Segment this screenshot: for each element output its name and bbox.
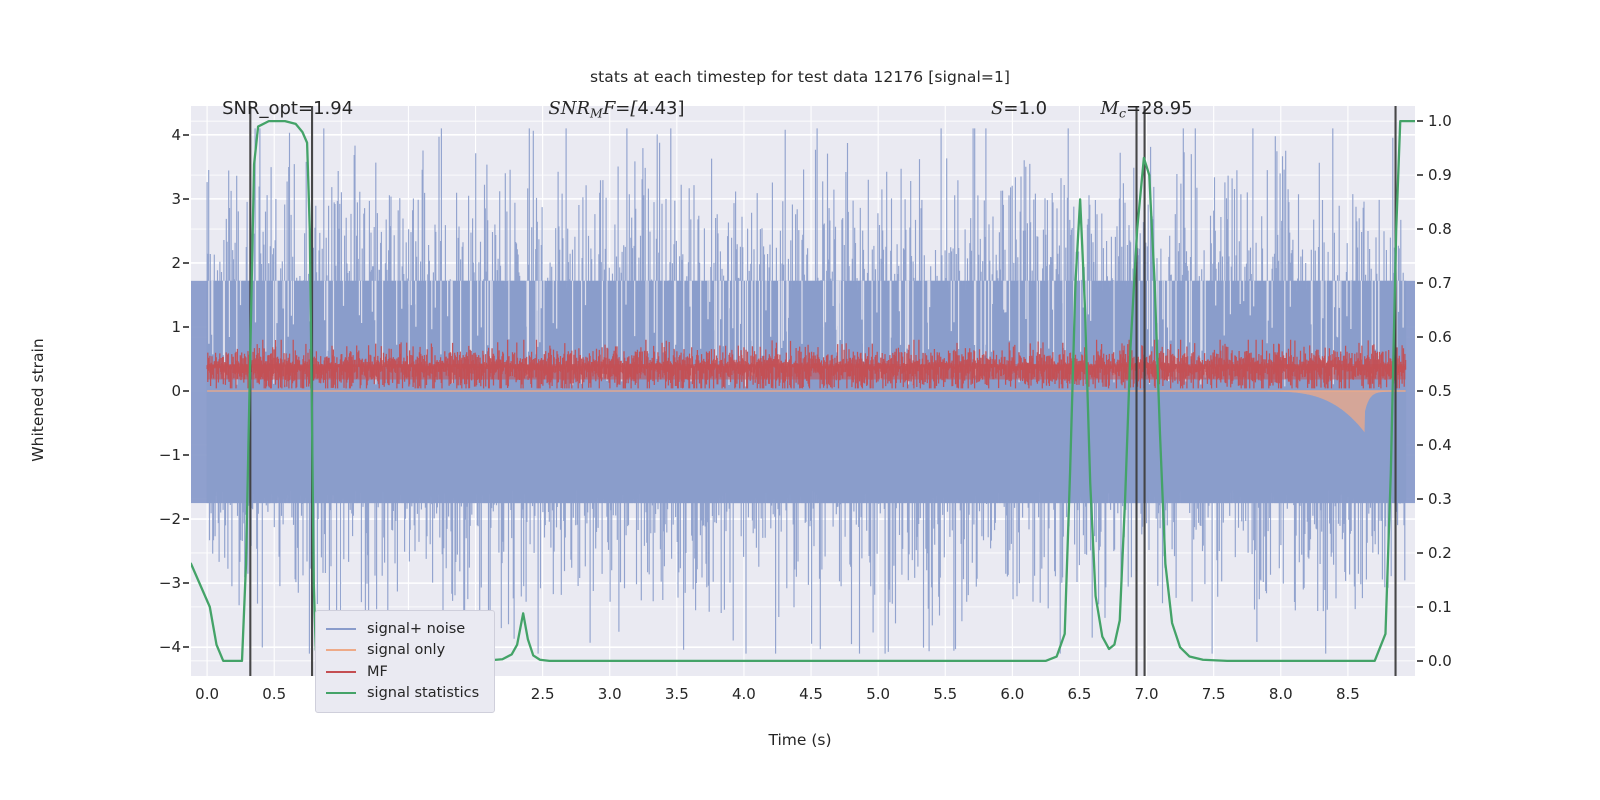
- y-tick-mark-right: [1417, 552, 1423, 554]
- y-tick-label-right: 0.7: [1428, 274, 1498, 292]
- x-tick-label: 5.0: [843, 685, 913, 703]
- y-tick-label-right: 0.6: [1428, 328, 1498, 346]
- y-tick-mark-right: [1417, 660, 1423, 662]
- y-tick-mark-right: [1417, 606, 1423, 608]
- y-tick-label-right: 0.8: [1428, 220, 1498, 238]
- y-tick-label-right: 0.5: [1428, 382, 1498, 400]
- figure-canvas: stats at each timestep for test data 121…: [0, 0, 1600, 800]
- plot-svg: [191, 106, 1415, 676]
- y-tick-label-right: 0.1: [1428, 598, 1498, 616]
- y-tick-label-left: 1: [121, 318, 181, 336]
- x-tick-label: 6.0: [977, 685, 1047, 703]
- y-tick-mark-right: [1417, 174, 1423, 176]
- y-tick-mark-right: [1417, 282, 1423, 284]
- y-tick-mark-left: [183, 390, 189, 392]
- legend-item[interactable]: signal only: [326, 640, 484, 662]
- y-tick-label-left: −1: [121, 446, 181, 464]
- annotation-chirp-mass: Mc=28.95: [1101, 98, 1193, 121]
- y-tick-label-left: −2: [121, 510, 181, 528]
- x-axis-label: Time (s): [0, 731, 1600, 749]
- y-tick-mark-left: [183, 454, 189, 456]
- x-tick-label: 3.0: [575, 685, 645, 703]
- y-tick-mark-left: [183, 646, 189, 648]
- legend-label: signal only: [367, 642, 445, 658]
- legend-color-swatch: [326, 692, 356, 694]
- y-tick-label-left: −3: [121, 574, 181, 592]
- y-tick-label-right: 0.0: [1428, 652, 1498, 670]
- x-tick-label: 6.5: [1044, 685, 1114, 703]
- y-axis-label-left: Whitened strain: [29, 240, 47, 560]
- annotation-s-statistic: S=1.0: [991, 98, 1047, 119]
- legend-item[interactable]: signal+ noise: [326, 618, 484, 640]
- y-tick-label-right: 0.9: [1428, 166, 1498, 184]
- y-tick-mark-right: [1417, 498, 1423, 500]
- y-tick-label-right: 0.2: [1428, 544, 1498, 562]
- legend-item[interactable]: signal statistics: [326, 683, 484, 705]
- y-tick-label-left: −4: [121, 638, 181, 656]
- plot-area: [191, 106, 1415, 676]
- x-tick-label: 5.5: [910, 685, 980, 703]
- legend-label: signal+ noise: [367, 621, 465, 637]
- x-tick-label: 3.5: [642, 685, 712, 703]
- legend-label: MF: [367, 664, 388, 680]
- y-tick-label-right: 0.4: [1428, 436, 1498, 454]
- y-tick-mark-right: [1417, 228, 1423, 230]
- annotation-snr-mf: SNRMF=[4.43]: [548, 98, 684, 121]
- y-tick-label-right: 0.3: [1428, 490, 1498, 508]
- y-tick-mark-right: [1417, 444, 1423, 446]
- legend-color-swatch: [326, 628, 356, 630]
- y-tick-mark-left: [183, 198, 189, 200]
- x-tick-label: 2.5: [508, 685, 578, 703]
- x-tick-label: 7.5: [1179, 685, 1249, 703]
- y-tick-mark-left: [183, 134, 189, 136]
- y-tick-mark-left: [183, 518, 189, 520]
- annotation-snr-opt: SNR_opt=1.94: [222, 98, 353, 119]
- x-tick-label: 4.5: [776, 685, 846, 703]
- y-tick-label-right: 1.0: [1428, 112, 1498, 130]
- legend-label: signal statistics: [367, 685, 479, 701]
- y-tick-mark-left: [183, 326, 189, 328]
- legend-color-swatch: [326, 649, 356, 651]
- y-tick-mark-left: [183, 262, 189, 264]
- y-tick-mark-right: [1417, 120, 1423, 122]
- x-tick-label: 8.5: [1313, 685, 1383, 703]
- legend-color-swatch: [326, 671, 356, 673]
- legend-item[interactable]: MF: [326, 661, 484, 683]
- y-tick-label-left: 4: [121, 126, 181, 144]
- x-tick-label: 0.0: [172, 685, 242, 703]
- legend: signal+ noisesignal onlyMFsignal statist…: [315, 610, 495, 713]
- y-tick-mark-right: [1417, 390, 1423, 392]
- y-tick-label-left: 3: [121, 190, 181, 208]
- y-tick-label-left: 0: [121, 382, 181, 400]
- x-tick-label: 8.0: [1246, 685, 1316, 703]
- y-tick-label-left: 2: [121, 254, 181, 272]
- y-tick-mark-right: [1417, 336, 1423, 338]
- x-tick-label: 7.0: [1112, 685, 1182, 703]
- x-tick-label: 4.0: [709, 685, 779, 703]
- x-tick-label: 0.5: [239, 685, 309, 703]
- chart-title: stats at each timestep for test data 121…: [0, 68, 1600, 86]
- y-tick-mark-left: [183, 582, 189, 584]
